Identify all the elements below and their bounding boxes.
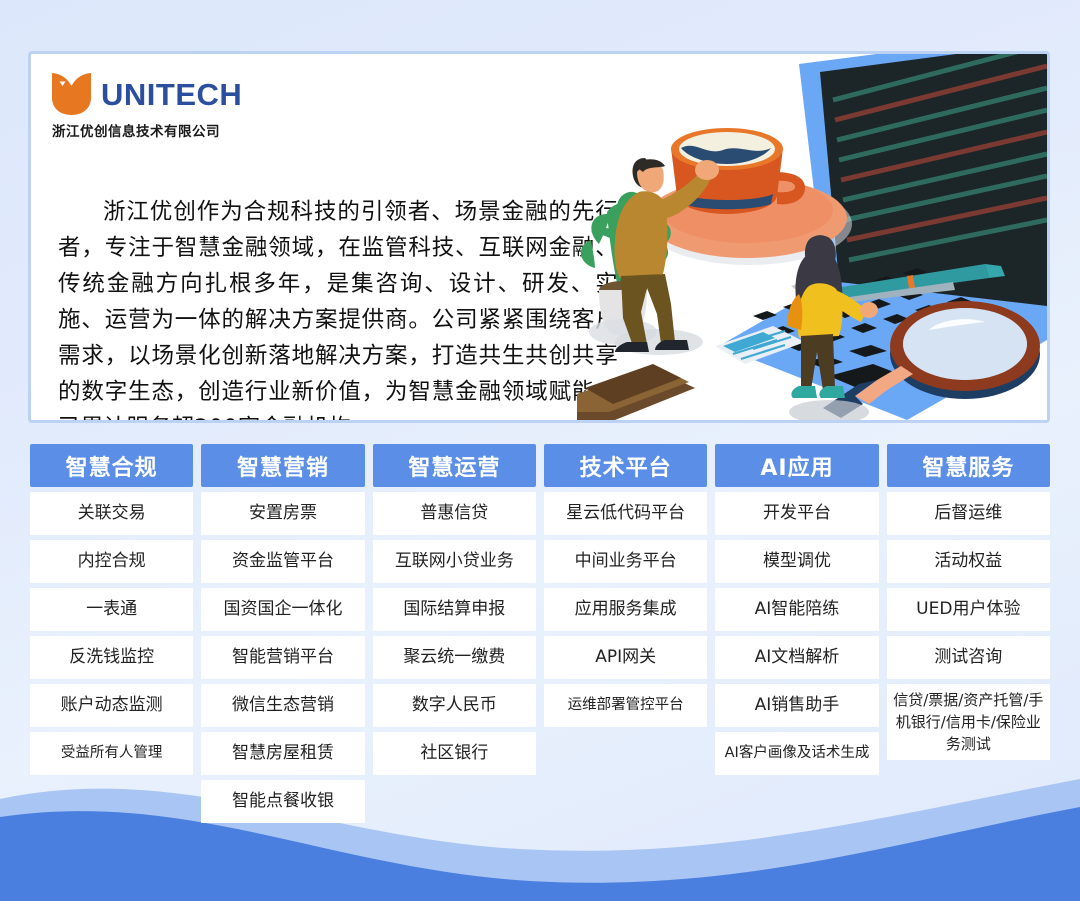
list-item[interactable]: 信贷/票据/资产托管/手机银行/信用卡/保险业务测试 bbox=[887, 684, 1050, 760]
list-item[interactable]: 内控合规 bbox=[30, 540, 193, 583]
list-item[interactable]: 应用服务集成 bbox=[544, 588, 707, 631]
capability-matrix: 智慧合规 关联交易 内控合规 一表通 反洗钱监控 账户动态监测 受益所有人管理 … bbox=[30, 444, 1050, 823]
list-item[interactable]: AI客户画像及话术生成 bbox=[715, 732, 878, 775]
column-jishu-pingtai: 技术平台 星云低代码平台 中间业务平台 应用服务集成 API网关 运维部署管控平… bbox=[544, 444, 707, 823]
list-item[interactable]: 数字人民币 bbox=[373, 684, 536, 727]
list-item[interactable]: 测试咨询 bbox=[887, 636, 1050, 679]
list-item[interactable]: 模型调优 bbox=[715, 540, 878, 583]
list-item[interactable]: 活动权益 bbox=[887, 540, 1050, 583]
list-item[interactable]: 微信生态营销 bbox=[201, 684, 364, 727]
list-item[interactable]: 运维部署管控平台 bbox=[544, 684, 707, 727]
list-item[interactable]: 反洗钱监控 bbox=[30, 636, 193, 679]
desk-workspace-illustration bbox=[577, 54, 1047, 420]
column-ai-yingyong: AI应用 开发平台 模型调优 AI智能陪练 AI文档解析 AI销售助手 AI客户… bbox=[715, 444, 878, 823]
logo-wordmark: UNITECH bbox=[101, 79, 242, 110]
list-item[interactable]: 普惠信贷 bbox=[373, 492, 536, 535]
books-icon bbox=[577, 364, 695, 420]
list-item[interactable]: 关联交易 bbox=[30, 492, 193, 535]
list-item[interactable]: 一表通 bbox=[30, 588, 193, 631]
column-zhihui-yingxiao: 智慧营销 安置房票 资金监管平台 国资国企一体化 智能营销平台 微信生态营销 智… bbox=[201, 444, 364, 823]
column-zhihui-fuwu: 智慧服务 后督运维 活动权益 UED用户体验 测试咨询 信贷/票据/资产托管/手… bbox=[887, 444, 1050, 823]
column-header[interactable]: 智慧营销 bbox=[201, 444, 364, 487]
list-item[interactable]: API网关 bbox=[544, 636, 707, 679]
list-item[interactable]: 智能点餐收银 bbox=[201, 780, 364, 823]
list-item[interactable]: 智慧房屋租赁 bbox=[201, 732, 364, 775]
column-zhihui-hegui: 智慧合规 关联交易 内控合规 一表通 反洗钱监控 账户动态监测 受益所有人管理 bbox=[30, 444, 193, 823]
column-zhihui-yunying: 智慧运营 普惠信贷 互联网小贷业务 国际结算申报 聚云统一缴费 数字人民币 社区… bbox=[373, 444, 536, 823]
list-item[interactable]: 互联网小贷业务 bbox=[373, 540, 536, 583]
list-item[interactable]: 账户动态监测 bbox=[30, 684, 193, 727]
list-item[interactable]: UED用户体验 bbox=[887, 588, 1050, 631]
company-intro-panel: UNITECH 浙江优创信息技术有限公司 浙江优创作为合规科技的引领者、场景金融… bbox=[28, 51, 1050, 423]
list-item[interactable]: 国资国企一体化 bbox=[201, 588, 364, 631]
column-header[interactable]: 技术平台 bbox=[544, 444, 707, 487]
column-header[interactable]: 智慧运营 bbox=[373, 444, 536, 487]
list-item[interactable]: 星云低代码平台 bbox=[544, 492, 707, 535]
list-item[interactable]: 中间业务平台 bbox=[544, 540, 707, 583]
list-item[interactable]: 国际结算申报 bbox=[373, 588, 536, 631]
list-item[interactable]: 后督运维 bbox=[887, 492, 1050, 535]
list-item[interactable]: AI销售助手 bbox=[715, 684, 878, 727]
column-header[interactable]: 智慧合规 bbox=[30, 444, 193, 487]
column-header[interactable]: AI应用 bbox=[715, 444, 878, 487]
column-header[interactable]: 智慧服务 bbox=[887, 444, 1050, 487]
list-item[interactable]: 聚云统一缴费 bbox=[373, 636, 536, 679]
company-logo-block: UNITECH 浙江优创信息技术有限公司 bbox=[51, 72, 242, 140]
list-item[interactable]: 智能营销平台 bbox=[201, 636, 364, 679]
list-item[interactable]: AI智能陪练 bbox=[715, 588, 878, 631]
logo-row: UNITECH bbox=[51, 72, 242, 116]
tulip-logo-icon bbox=[51, 72, 92, 116]
list-item[interactable]: AI文档解析 bbox=[715, 636, 878, 679]
company-name-cn: 浙江优创信息技术有限公司 bbox=[52, 120, 220, 140]
company-intro-paragraph: 浙江优创作为合规科技的引领者、场景金融的先行者，专注于智慧金融领域，在监管科技、… bbox=[58, 194, 618, 423]
list-item[interactable]: 社区银行 bbox=[373, 732, 536, 775]
list-item[interactable]: 资金监管平台 bbox=[201, 540, 364, 583]
list-item[interactable]: 开发平台 bbox=[715, 492, 878, 535]
list-item[interactable]: 安置房票 bbox=[201, 492, 364, 535]
list-item[interactable]: 受益所有人管理 bbox=[30, 732, 193, 775]
